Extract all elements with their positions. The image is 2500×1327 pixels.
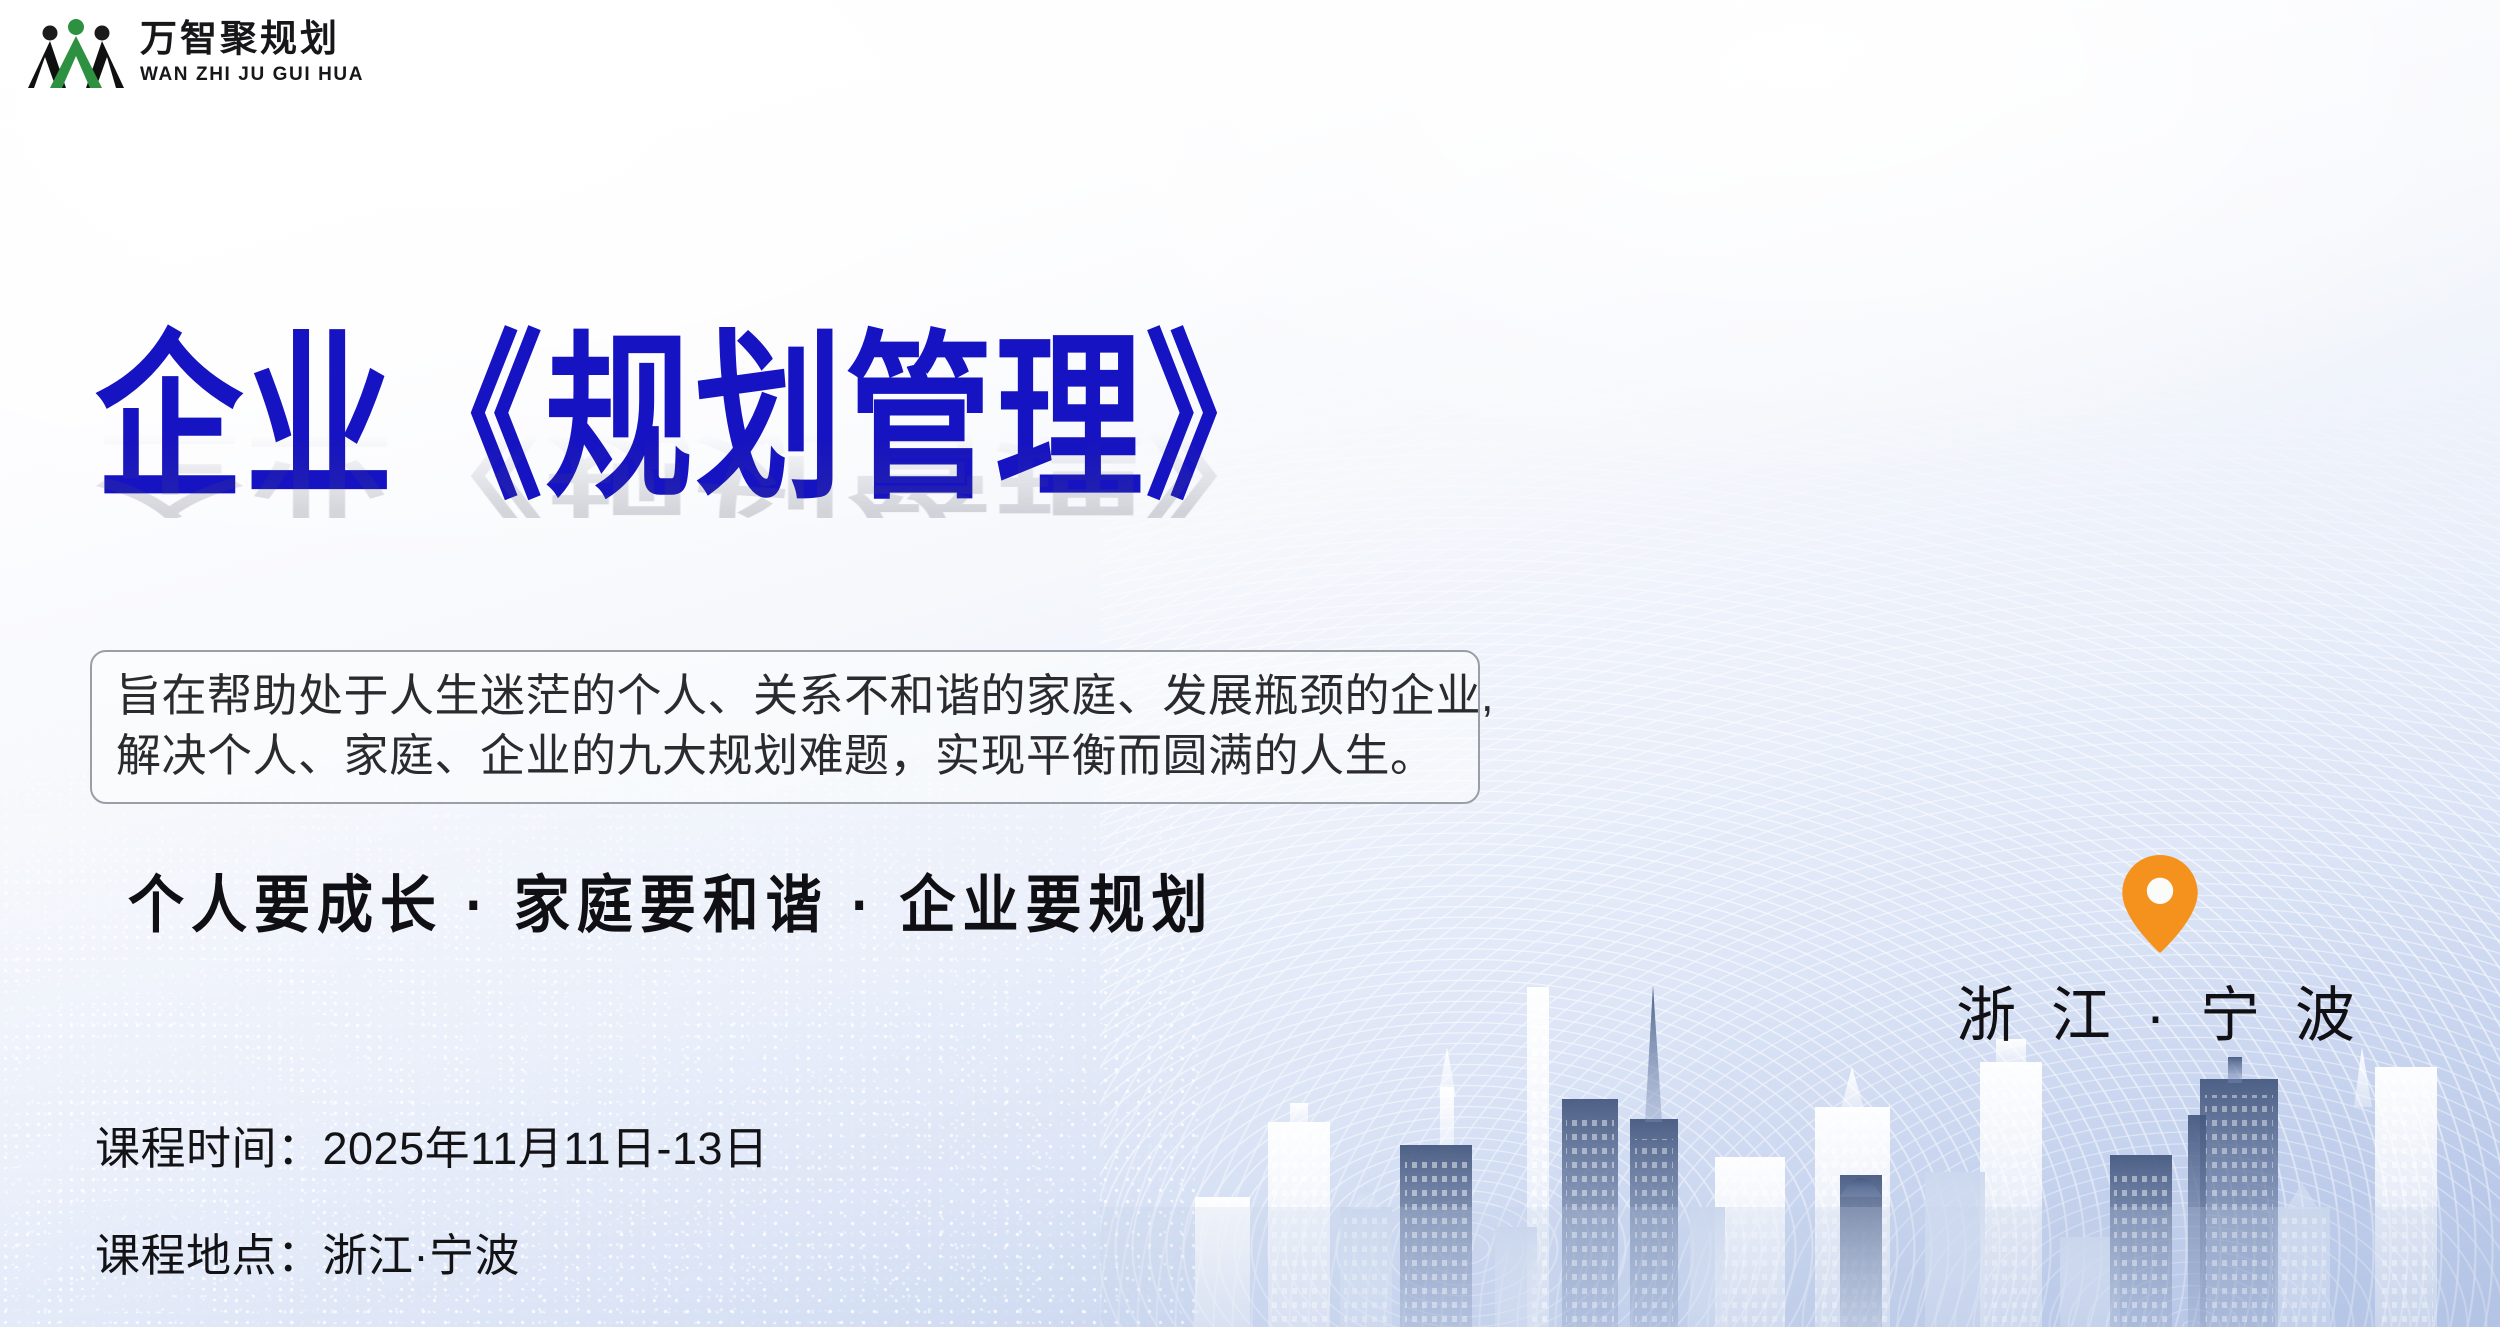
main-title-block: 企业《规划管理》 企业《规划管理》 [95, 330, 1295, 478]
poster-canvas: 万智聚规划 WAN ZHI JU GUI HUA 企业《规划管理》 企业《规划管… [0, 0, 2500, 1327]
course-place: 课程地点：浙江·宁波 [95, 1219, 769, 1284]
location-label: 浙 江 · 宁 波 [1950, 967, 2370, 1054]
course-info-block: 课程时间：2025年11月11日-13日 课程地点：浙江·宁波 [95, 1112, 769, 1284]
description-line-2: 解决个人、家庭、企业的九大规划难题，实现平衡而圆满的人生。 [116, 726, 1454, 786]
brand-logo: 万智聚规划 WAN ZHI JU GUI HUA [28, 14, 364, 92]
three-people-m-logo-icon [28, 14, 124, 92]
description-line-1: 旨在帮助处于人生迷茫的个人、关系不和谐的家庭、发展瓶颈的企业, [116, 666, 1454, 726]
course-time: 课程时间：2025年11月11日-13日 [95, 1112, 769, 1177]
brand-logo-text: 万智聚规划 WAN ZHI JU GUI HUA [140, 20, 364, 86]
brand-name-en: WAN ZHI JU GUI HUA [140, 64, 364, 86]
background-wave-mesh-right [1100, 345, 2500, 1327]
location-pin-icon [2122, 855, 2198, 953]
location-block: 浙 江 · 宁 波 [1950, 855, 2370, 1054]
tagline: 个人要成长 · 家庭要和谐 · 企业要规划 [128, 855, 1215, 946]
description-box: 旨在帮助处于人生迷茫的个人、关系不和谐的家庭、发展瓶颈的企业, 解决个人、家庭、… [90, 650, 1480, 804]
brand-name-cn: 万智聚规划 [140, 20, 364, 61]
page-title-reflection: 企业《规划管理》 [95, 426, 1295, 518]
